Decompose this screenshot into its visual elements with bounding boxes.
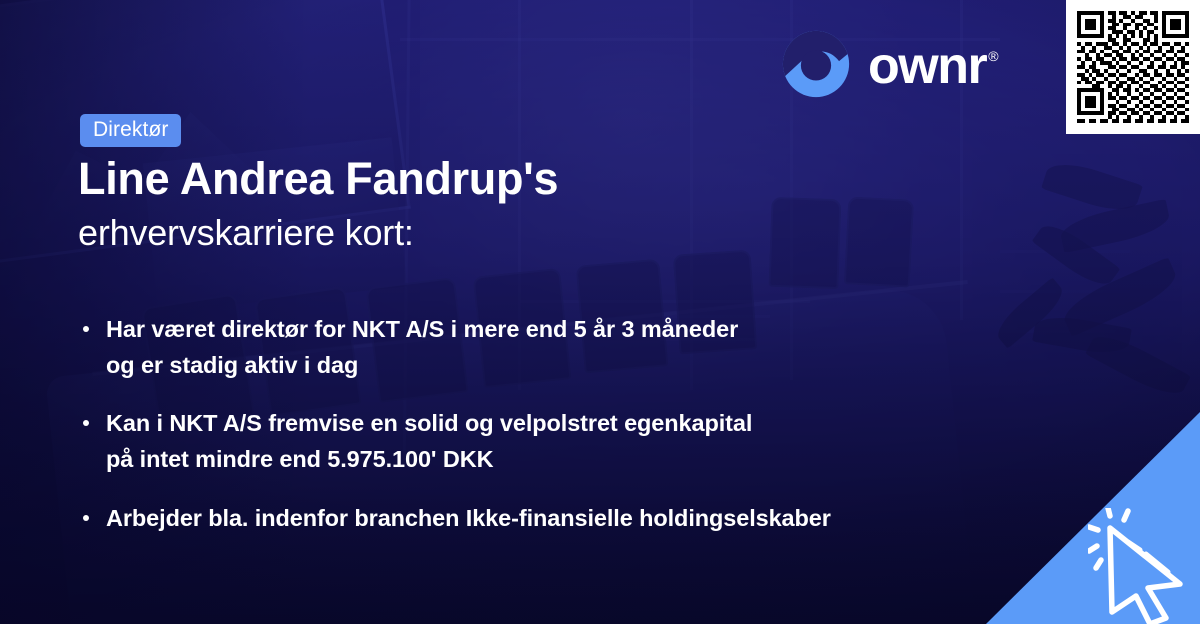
page-title: Line Andrea Fandrup's (78, 156, 558, 203)
ownr-wordmark: ownr® (868, 40, 995, 92)
ownr-logo[interactable]: ownr® (780, 28, 995, 100)
bullet-dot (83, 420, 89, 426)
role-badge: Direktør (80, 114, 181, 147)
qr-code-grid (1077, 11, 1189, 123)
highlights-list: Har været direktør for NKT A/S i mere en… (80, 312, 980, 537)
registered-mark: ® (988, 48, 997, 64)
ownr-wordmark-text: ownr (868, 37, 986, 95)
ownr-logo-icon (780, 28, 852, 100)
promo-card: Direktør Line Andrea Fandrup's erhvervsk… (0, 0, 1200, 624)
list-item-line2: og er stadig aktiv i dag (106, 348, 980, 384)
content-layer: Direktør Line Andrea Fandrup's erhvervsk… (0, 0, 1200, 624)
click-cursor-icon (1088, 508, 1200, 624)
list-item-line1: Kan i NKT A/S fremvise en solid og velpo… (106, 410, 752, 436)
bullet-dot (83, 515, 89, 521)
bullet-dot (83, 326, 89, 332)
list-item-line1: Arbejder bla. indenfor branchen Ikke-fin… (106, 505, 831, 531)
list-item: Kan i NKT A/S fremvise en solid og velpo… (80, 406, 980, 477)
list-item-line1: Har været direktør for NKT A/S i mere en… (106, 316, 738, 342)
list-item: Arbejder bla. indenfor branchen Ikke-fin… (80, 501, 980, 537)
list-item: Har været direktør for NKT A/S i mere en… (80, 312, 980, 383)
page-subtitle: erhvervskarriere kort: (78, 213, 414, 253)
qr-code[interactable] (1066, 0, 1200, 134)
list-item-line2: på intet mindre end 5.975.100' DKK (106, 442, 980, 478)
